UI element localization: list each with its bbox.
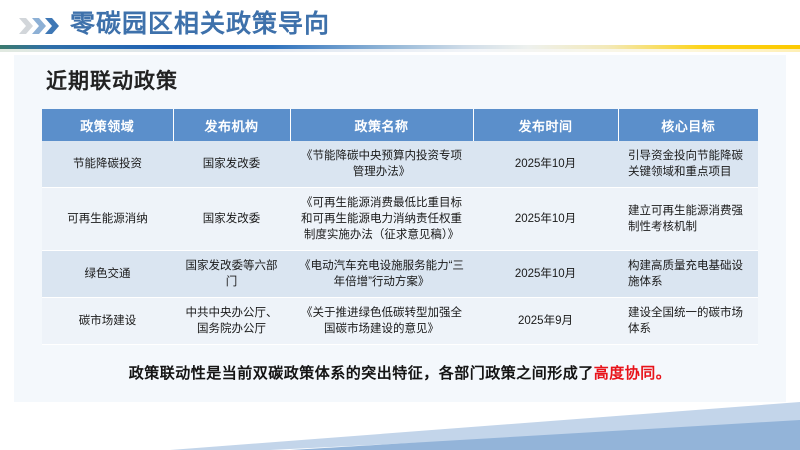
table-row: 节能降碳投资 国家发改委 《节能降碳中央预算内投资专项管理办法》 2025年10…	[42, 141, 758, 188]
summary-text-plain: 政策联动性是当前双碳政策体系的突出特征，各部门政策之间形成了	[129, 365, 594, 382]
slide-header: 零碳园区相关政策导向	[0, 0, 800, 50]
table-row: 绿色交通 国家发改委等六部门 《电动汽车充电设施服务能力“三年倍增”行动方案》 …	[42, 251, 758, 298]
triple-chevron-right-icon	[19, 17, 65, 35]
cell-policy-field: 可再生能源消纳	[42, 188, 173, 251]
column-header-agency: 发布机构	[173, 109, 290, 141]
cell-core-goal: 引导资金投向节能降碳关键领域和重点项目	[618, 141, 758, 188]
header-gradient-rule-soft	[0, 49, 800, 52]
section-title: 近期联动政策	[46, 69, 178, 95]
summary-callout: 政策联动性是当前双碳政策体系的突出特征，各部门政策之间形成了高度协同。	[42, 352, 758, 392]
cell-policy-name: 《节能降碳中央预算内投资专项管理办法》	[290, 141, 473, 188]
cell-core-goal: 建立可再生能源消费强制性考核机制	[618, 188, 758, 251]
cell-policy-field: 绿色交通	[42, 251, 173, 298]
cell-release-date: 2025年9月	[473, 298, 618, 345]
cell-policy-name: 《电动汽车充电设施服务能力“三年倍增”行动方案》	[290, 251, 473, 298]
cell-policy-field: 节能降碳投资	[42, 141, 173, 188]
policy-table: 政策领域 发布机构 政策名称 发布时间 核心目标 节能降碳投资 国家发改委 《节…	[42, 109, 758, 345]
cell-policy-name: 《关于推进绿色低碳转型加强全国碳市场建设的意见》	[290, 298, 473, 345]
cell-agency: 国家发改委等六部门	[173, 251, 290, 298]
content-card: 近期联动政策 政策领域 发布机构 政策名称 发布时间 核心目标 节能降碳投资 国…	[14, 55, 786, 402]
cell-core-goal: 建设全国统一的碳市场体系	[618, 298, 758, 345]
table-row: 可再生能源消纳 国家发改委 《可再生能源消费最低比重目标和可再生能源电力消纳责任…	[42, 188, 758, 251]
cell-release-date: 2025年10月	[473, 141, 618, 188]
cell-core-goal: 构建高质量充电基础设施体系	[618, 251, 758, 298]
cell-release-date: 2025年10月	[473, 188, 618, 251]
column-header-release-date: 发布时间	[473, 109, 618, 141]
summary-callout-text: 政策联动性是当前双碳政策体系的突出特征，各部门政策之间形成了高度协同。	[129, 362, 672, 383]
column-header-core-goal: 核心目标	[618, 109, 758, 141]
table-row: 碳市场建设 中共中央办公厅、国务院办公厅 《关于推进绿色低碳转型加强全国碳市场建…	[42, 298, 758, 345]
column-header-policy-field: 政策领域	[42, 109, 173, 141]
summary-text-highlight: 高度协同。	[594, 365, 672, 382]
table-header-row: 政策领域 发布机构 政策名称 发布时间 核心目标	[42, 109, 758, 141]
column-header-policy-name: 政策名称	[290, 109, 473, 141]
cell-release-date: 2025年10月	[473, 251, 618, 298]
cell-agency: 国家发改委	[173, 188, 290, 251]
page-title: 零碳园区相关政策导向	[70, 9, 330, 39]
cell-policy-field: 碳市场建设	[42, 298, 173, 345]
cell-agency: 中共中央办公厅、国务院办公厅	[173, 298, 290, 345]
cell-policy-name: 《可再生能源消费最低比重目标和可再生能源电力消纳责任权重制度实施办法（征求意见稿…	[290, 188, 473, 251]
cell-agency: 国家发改委	[173, 141, 290, 188]
